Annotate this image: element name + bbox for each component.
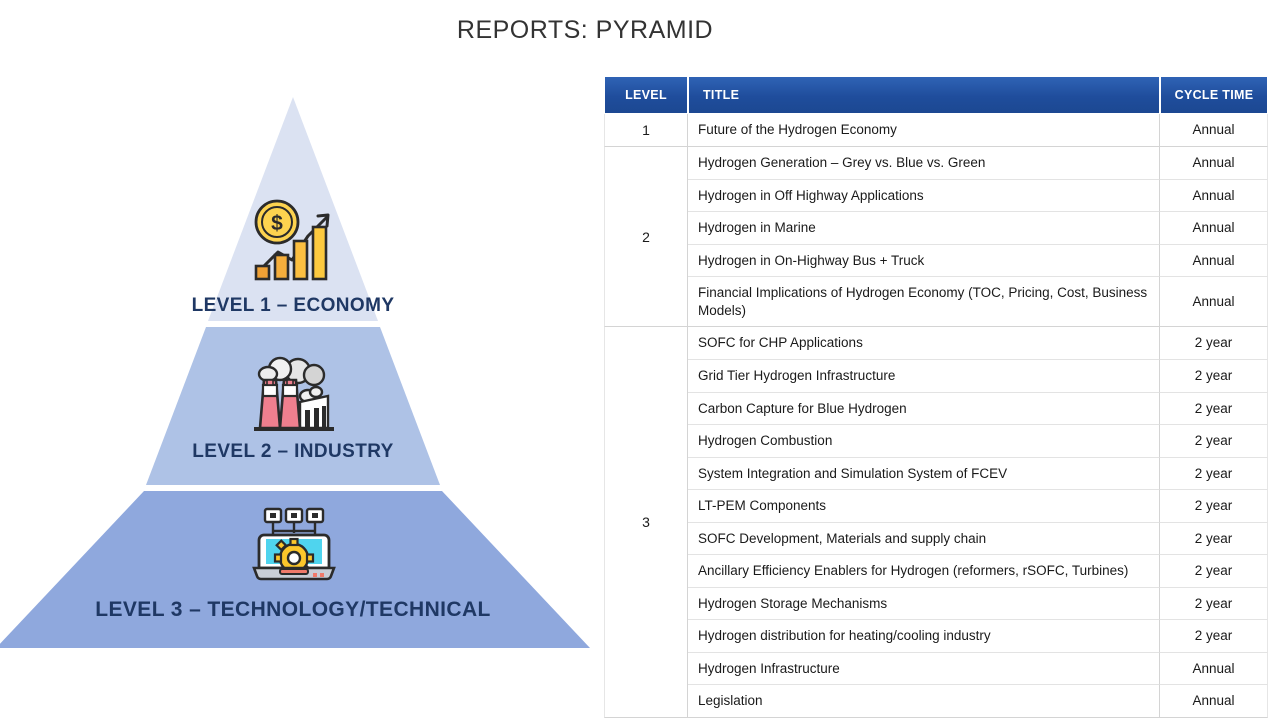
laptop-gear-network-icon bbox=[247, 501, 341, 587]
cell-title[interactable]: Legislation bbox=[688, 685, 1160, 718]
cell-cycle-time: Annual bbox=[1160, 114, 1268, 147]
growth-chart-dollar-icon: $ bbox=[248, 196, 340, 282]
table-row[interactable]: 1Future of the Hydrogen EconomyAnnual bbox=[604, 114, 1268, 147]
table-row[interactable]: Hydrogen in Off Highway ApplicationsAnnu… bbox=[604, 180, 1268, 213]
table-body: 1Future of the Hydrogen EconomyAnnual2Hy… bbox=[604, 114, 1268, 718]
table-row[interactable]: Hydrogen Combustion2 year bbox=[604, 425, 1268, 458]
column-header-level[interactable]: LEVEL bbox=[604, 76, 688, 114]
cell-title[interactable]: Future of the Hydrogen Economy bbox=[688, 114, 1160, 147]
cell-cycle-time: Annual bbox=[1160, 147, 1268, 180]
cell-title[interactable]: Hydrogen Generation – Grey vs. Blue vs. … bbox=[688, 147, 1160, 180]
cell-cycle-time: 2 year bbox=[1160, 327, 1268, 360]
cell-title[interactable]: Grid Tier Hydrogen Infrastructure bbox=[688, 360, 1160, 393]
table-row[interactable]: Hydrogen in On-Highway Bus + TruckAnnual bbox=[604, 245, 1268, 278]
pyramid-tier-1-label: LEVEL 1 – ECONOMY bbox=[143, 295, 443, 317]
cell-cycle-time: Annual bbox=[1160, 212, 1268, 245]
cell-cycle-time: 2 year bbox=[1160, 490, 1268, 523]
table-row[interactable]: Hydrogen distribution for heating/coolin… bbox=[604, 620, 1268, 653]
column-header-title[interactable]: TITLE bbox=[688, 76, 1160, 114]
table-row[interactable]: Hydrogen in MarineAnnual bbox=[604, 212, 1268, 245]
svg-text:$: $ bbox=[271, 212, 283, 235]
cell-cycle-time: 2 year bbox=[1160, 523, 1268, 556]
cell-title[interactable]: Hydrogen distribution for heating/coolin… bbox=[688, 620, 1160, 653]
cell-title[interactable]: System Integration and Simulation System… bbox=[688, 458, 1160, 491]
cell-cycle-time: 2 year bbox=[1160, 555, 1268, 588]
cell-level: 1 bbox=[604, 114, 688, 147]
pyramid-diagram: $ bbox=[0, 0, 600, 648]
reports-table: LEVEL TITLE CYCLE TIME 1Future of the Hy… bbox=[604, 76, 1268, 718]
cell-level: 3 bbox=[604, 327, 688, 718]
cell-title[interactable]: Financial Implications of Hydrogen Econo… bbox=[688, 277, 1160, 327]
table-row[interactable]: Financial Implications of Hydrogen Econo… bbox=[604, 277, 1268, 327]
table-row[interactable]: Ancillary Efficiency Enablers for Hydrog… bbox=[604, 555, 1268, 588]
cell-title[interactable]: Hydrogen in Off Highway Applications bbox=[688, 180, 1160, 213]
cell-cycle-time: 2 year bbox=[1160, 458, 1268, 491]
cell-title[interactable]: Hydrogen in Marine bbox=[688, 212, 1160, 245]
table-row[interactable]: Carbon Capture for Blue Hydrogen2 year bbox=[604, 393, 1268, 426]
table-row[interactable]: SOFC Development, Materials and supply c… bbox=[604, 523, 1268, 556]
table-row[interactable]: Grid Tier Hydrogen Infrastructure2 year bbox=[604, 360, 1268, 393]
table-row[interactable]: System Integration and Simulation System… bbox=[604, 458, 1268, 491]
cell-cycle-time: 2 year bbox=[1160, 620, 1268, 653]
cell-title[interactable]: Hydrogen Combustion bbox=[688, 425, 1160, 458]
cell-cycle-time: Annual bbox=[1160, 653, 1268, 686]
table-row[interactable]: 3SOFC for CHP Applications2 year bbox=[604, 327, 1268, 360]
pyramid-tier-2-label: LEVEL 2 – INDUSTRY bbox=[143, 441, 443, 463]
pyramid-tier-3-label: LEVEL 3 – TECHNOLOGY/TECHNICAL bbox=[93, 598, 493, 622]
cell-title[interactable]: Hydrogen Infrastructure bbox=[688, 653, 1160, 686]
cell-title[interactable]: Ancillary Efficiency Enablers for Hydrog… bbox=[688, 555, 1160, 588]
table-row[interactable]: LT-PEM Components2 year bbox=[604, 490, 1268, 523]
cell-cycle-time: 2 year bbox=[1160, 393, 1268, 426]
table-row[interactable]: Hydrogen InfrastructureAnnual bbox=[604, 653, 1268, 686]
cell-title[interactable]: Hydrogen Storage Mechanisms bbox=[688, 588, 1160, 621]
cell-title[interactable]: LT-PEM Components bbox=[688, 490, 1160, 523]
cell-cycle-time: 2 year bbox=[1160, 588, 1268, 621]
factory-smokestack-icon bbox=[246, 354, 342, 436]
table-row[interactable]: LegislationAnnual bbox=[604, 685, 1268, 718]
table-row[interactable]: 2Hydrogen Generation – Grey vs. Blue vs.… bbox=[604, 147, 1268, 180]
cell-cycle-time: Annual bbox=[1160, 180, 1268, 213]
cell-title[interactable]: SOFC for CHP Applications bbox=[688, 327, 1160, 360]
column-header-cycle-time[interactable]: CYCLE TIME bbox=[1160, 76, 1268, 114]
cell-cycle-time: Annual bbox=[1160, 245, 1268, 278]
cell-title[interactable]: SOFC Development, Materials and supply c… bbox=[688, 523, 1160, 556]
table-row[interactable]: Hydrogen Storage Mechanisms2 year bbox=[604, 588, 1268, 621]
cell-title[interactable]: Hydrogen in On-Highway Bus + Truck bbox=[688, 245, 1160, 278]
cell-cycle-time: 2 year bbox=[1160, 360, 1268, 393]
table-header-row: LEVEL TITLE CYCLE TIME bbox=[604, 76, 1268, 114]
cell-cycle-time: Annual bbox=[1160, 277, 1268, 327]
cell-title[interactable]: Carbon Capture for Blue Hydrogen bbox=[688, 393, 1160, 426]
cell-cycle-time: Annual bbox=[1160, 685, 1268, 718]
table-header: LEVEL TITLE CYCLE TIME bbox=[604, 76, 1268, 114]
cell-level: 2 bbox=[604, 147, 688, 327]
cell-cycle-time: 2 year bbox=[1160, 425, 1268, 458]
